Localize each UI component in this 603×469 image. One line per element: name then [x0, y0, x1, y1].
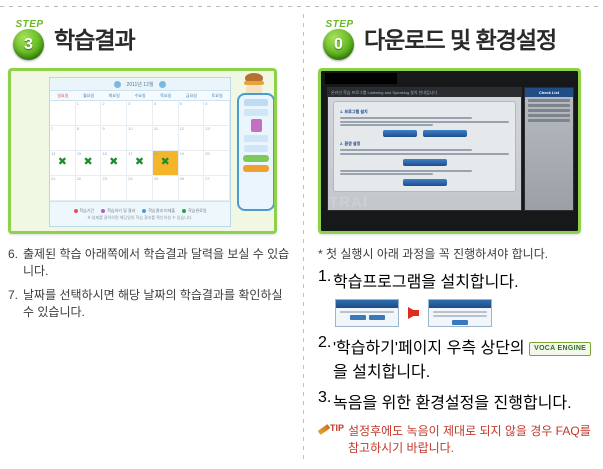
- calendar-day-number: 7: [51, 126, 53, 131]
- weekday-label: 화요일: [101, 91, 127, 100]
- calendar-day-cell[interactable]: 19: [179, 151, 205, 176]
- calendar-day-cell[interactable]: 15✖: [76, 151, 102, 176]
- calendar-day-cell[interactable]: 22: [76, 176, 102, 201]
- calendar-day-number: 8: [77, 126, 79, 131]
- legend-color-dot: [101, 209, 105, 213]
- list-item-number: 6.: [8, 246, 23, 280]
- calendar-day-cell[interactable]: 3: [127, 101, 153, 126]
- legend-item: 학습완료일: [182, 208, 206, 214]
- calendar-day-number: 3: [128, 101, 130, 106]
- legend-item: 학습기간: [74, 208, 95, 214]
- calendar-day-cell[interactable]: 16✖: [101, 151, 127, 176]
- left-instruction-list: 6. 출제된 학습 아래쪽에서 학습결과 달력을 보실 수 있습니다. 7. 날…: [8, 246, 291, 321]
- legend-color-dot: [142, 209, 146, 213]
- calendar-day-number: 11: [154, 126, 158, 131]
- list-item-number: 3.: [318, 389, 333, 413]
- weekday-label: 일요일: [50, 91, 76, 100]
- confirm-start-button[interactable]: [403, 179, 447, 186]
- calendar-day-cell[interactable]: 25: [153, 176, 179, 201]
- calendar-header: 2011년 12월: [50, 78, 230, 91]
- legend-color-dot: [182, 209, 186, 213]
- calendar-day-mark: ✖: [101, 157, 126, 168]
- install-program-screenshot: 온라인 학습 프로그램 Listening and Speaking 설치 안내…: [321, 71, 578, 231]
- calendar-day-number: 14: [51, 151, 55, 156]
- weekday-label: 토요일: [204, 91, 230, 100]
- side-widget-panel[interactable]: [237, 93, 275, 211]
- record-setting-button[interactable]: [403, 159, 447, 166]
- voca-engine-button[interactable]: VOCA ENGINE: [529, 342, 591, 356]
- calendar-day-number: 19: [180, 151, 184, 156]
- list-item: 6. 출제된 학습 아래쪽에서 학습결과 달력을 보실 수 있습니다.: [8, 246, 291, 280]
- program-screenshot-frame: 온라인 학습 프로그램 Listening and Speaking 설치 안내…: [318, 68, 581, 234]
- list-item-text: '학습하기'페이지 우측 상단의 VOCA ENGINE을 설치합니다.: [333, 334, 597, 382]
- first-run-note: * 첫 실행시 아래 과정을 꼭 진행하셔야 합니다.: [318, 246, 597, 263]
- left-panel: STEP 3 학습결과 2011년 12월 일요일 월요일 화요일 수요일 목요…: [0, 0, 303, 328]
- step-number: 3: [13, 37, 44, 53]
- app-window-title: 온라인 학습 프로그램 Listening and Speaking 설치 안내…: [328, 88, 521, 97]
- next-month-icon[interactable]: [159, 81, 166, 88]
- step-badge-3: STEP 3: [8, 18, 50, 62]
- list-item: 7. 날짜를 선택하시면 해당 날짜의 학습결과를 확인하실 수 있습니다.: [8, 287, 291, 321]
- right-step-title: 다운로드 및 환경설정: [364, 29, 556, 52]
- install-step-thumbnails: [335, 299, 597, 327]
- calendar-day-cell[interactable]: 7: [50, 126, 76, 151]
- list-item-text-suffix: 을 설치합니다.: [333, 364, 430, 381]
- calendar-year-month: 2011년 12월: [127, 81, 154, 88]
- calendar-day-cell[interactable]: 12: [179, 126, 205, 151]
- calendar-day-number: 20: [205, 151, 209, 156]
- calendar-day-mark: ✖: [76, 157, 101, 168]
- step-badge-0: STEP 0: [318, 18, 360, 62]
- calendar-day-number: 6: [205, 101, 207, 106]
- section-heading: 2. 환경 설정: [340, 141, 509, 147]
- list-item-text: 출제된 학습 아래쪽에서 학습결과 달력을 보실 수 있습니다.: [23, 246, 291, 280]
- app-window: 온라인 학습 프로그램 Listening and Speaking 설치 안내…: [327, 87, 522, 211]
- calendar-day-number: 15: [77, 151, 81, 156]
- calendar-day-number: 21: [51, 176, 55, 181]
- learning-result-calendar: 2011년 12월 일요일 월요일 화요일 수요일 목요일 금요일 토요일 12…: [49, 77, 231, 227]
- list-item: 2. '학습하기'페이지 우측 상단의 VOCA ENGINE을 설치합니다.: [318, 334, 597, 382]
- calendar-day-number: 26: [180, 176, 184, 181]
- weekday-label: 월요일: [76, 91, 102, 100]
- calendar-day-number: 22: [77, 176, 81, 181]
- calendar-day-number: 18: [154, 151, 158, 156]
- calendar-day-number: 27: [205, 176, 209, 181]
- list-item-number: 7.: [8, 287, 23, 321]
- list-item-text: 날짜를 선택하시면 해당 날짜의 학습결과를 확인하실 수 있습니다.: [23, 287, 291, 321]
- list-item: 3. 녹음을 위한 환경설정을 진행합니다.: [318, 389, 597, 413]
- step-number: 0: [323, 37, 354, 53]
- calendar-day-cell[interactable]: 6: [204, 101, 230, 126]
- list-item-number: 2.: [318, 334, 333, 382]
- calendar-day-cell[interactable]: 8: [76, 126, 102, 151]
- calendar-day-mark: ✖: [127, 157, 152, 168]
- calendar-day-number: 10: [128, 126, 132, 131]
- widget-thumbnail-icon: [251, 119, 262, 132]
- calendar-day-cell[interactable]: 21: [50, 176, 76, 201]
- widget-green-button[interactable]: [243, 155, 269, 162]
- legend-label: 학습완료일: [188, 208, 206, 214]
- list-item-number: 1.: [318, 268, 333, 292]
- calendar-day-cell[interactable]: 10: [127, 126, 153, 151]
- tip-section: TIP 설정후에도 녹음이 제대로 되지 않을 경우 FAQ를 참고하시기 바랍…: [318, 423, 597, 457]
- app-titlebar: [325, 73, 397, 84]
- calendar-screenshot-frame: 2011년 12월 일요일 월요일 화요일 수요일 목요일 금요일 토요일 12…: [8, 68, 277, 234]
- calendar-day-cell[interactable]: 24: [127, 176, 153, 201]
- calendar-day-cell[interactable]: 4: [153, 101, 179, 126]
- calendar-day-cell[interactable]: 20: [204, 151, 230, 176]
- prev-month-icon[interactable]: [114, 81, 121, 88]
- calendar-day-number: 13: [205, 126, 209, 131]
- right-panel: STEP 0 다운로드 및 환경설정 온라인 학습 프로그램 Listening…: [304, 0, 603, 457]
- calendar-day-number: 2: [102, 101, 104, 106]
- install-dialog-thumbnail-after: [428, 299, 492, 327]
- weekday-label: 수요일: [127, 91, 153, 100]
- calendar-day-number: 5: [180, 101, 182, 106]
- pencil-icon: TIP: [318, 423, 348, 439]
- tip-text: 설정후에도 녹음이 제대로 되지 않을 경우 FAQ를 참고하시기 바랍니다.: [348, 423, 597, 457]
- list-item: 1. 학습프로그램을 설치합니다.: [318, 268, 597, 292]
- watermark-text: TRAI: [329, 194, 368, 211]
- calendar-day-number: 16: [102, 151, 106, 156]
- list-item-text: 녹음을 위한 환경설정을 진행합니다.: [333, 389, 597, 413]
- calendar-day-number: 12: [180, 126, 184, 131]
- calendar-day-cell[interactable]: 26: [179, 176, 205, 201]
- calendar-day-cell[interactable]: 23: [101, 176, 127, 201]
- calendar-day-cell[interactable]: 5: [179, 101, 205, 126]
- calendar-day-number: 4: [154, 101, 156, 106]
- legend-item: 학습결과 미제출: [142, 208, 175, 214]
- settings-button[interactable]: [423, 130, 467, 137]
- calendar-legend-note: ※ 날짜를 클릭하면 해당일의 학습 결과를 확인하실 수 있습니다.: [87, 215, 192, 221]
- section-heading: 1. 프로그램 설치: [340, 109, 509, 115]
- calendar-weekday-row: 일요일 월요일 화요일 수요일 목요일 금요일 토요일: [50, 91, 230, 101]
- legend-item: 학습하기 및 결과: [101, 208, 135, 214]
- calendar-day-cell[interactable]: 1: [76, 101, 102, 126]
- calendar-legend: 학습기간학습하기 및 결과학습결과 미제출학습완료일 ※ 날짜를 클릭하면 해당…: [50, 201, 230, 226]
- legend-label: 학습기간: [80, 208, 95, 214]
- calendar-day-cell[interactable]: 17✖: [127, 151, 153, 176]
- calendar-day-mark: ✖: [50, 157, 75, 168]
- calendar-day-cell[interactable]: 14✖: [50, 151, 76, 176]
- left-step-title: 학습결과: [54, 29, 135, 52]
- calendar-day-number: 17: [128, 151, 132, 156]
- list-item-text-prefix: '학습하기'페이지 우측 상단의: [333, 340, 525, 357]
- calendar-day-cell[interactable]: 9: [101, 126, 127, 151]
- weekday-label: 목요일: [153, 91, 179, 100]
- calendar-day-number: 1: [77, 101, 79, 106]
- calendar-day-number: 9: [102, 126, 104, 131]
- app-document-area: 1. 프로그램 설치 2. 환경 설정: [333, 101, 516, 192]
- list-item-text: 학습프로그램을 설치합니다.: [333, 268, 597, 292]
- legend-label: 학습결과 미제출: [148, 208, 175, 214]
- install-dialog-thumbnail-before: [335, 299, 399, 327]
- calendar-day-cell[interactable]: 13: [204, 126, 230, 151]
- calendar-day-cell[interactable]: 18✖: [153, 151, 179, 176]
- calendar-day-number: 25: [154, 176, 158, 181]
- widget-orange-button[interactable]: [243, 165, 269, 172]
- arrow-right-icon: [408, 307, 419, 319]
- left-step-header: STEP 3 학습결과: [8, 18, 291, 62]
- calendar-day-cell[interactable]: 11: [153, 126, 179, 151]
- tip-label: TIP: [330, 423, 344, 433]
- calendar-day-cell[interactable]: 2: [101, 101, 127, 126]
- legend-label: 학습하기 및 결과: [107, 208, 135, 214]
- right-step-header: STEP 0 다운로드 및 환경설정: [318, 18, 597, 62]
- calendar-day-number: 23: [102, 176, 106, 181]
- calendar-day-cell[interactable]: 27: [204, 176, 230, 201]
- install-button[interactable]: [383, 130, 417, 137]
- calendar-day-cell[interactable]: [50, 101, 76, 126]
- checklist-sidebar: Check List: [524, 87, 574, 211]
- calendar-day-mark: ✖: [153, 157, 178, 168]
- weekday-label: 금요일: [179, 91, 205, 100]
- checklist-title: Check List: [525, 88, 573, 97]
- legend-color-dot: [74, 209, 78, 213]
- calendar-day-number: 24: [128, 176, 132, 181]
